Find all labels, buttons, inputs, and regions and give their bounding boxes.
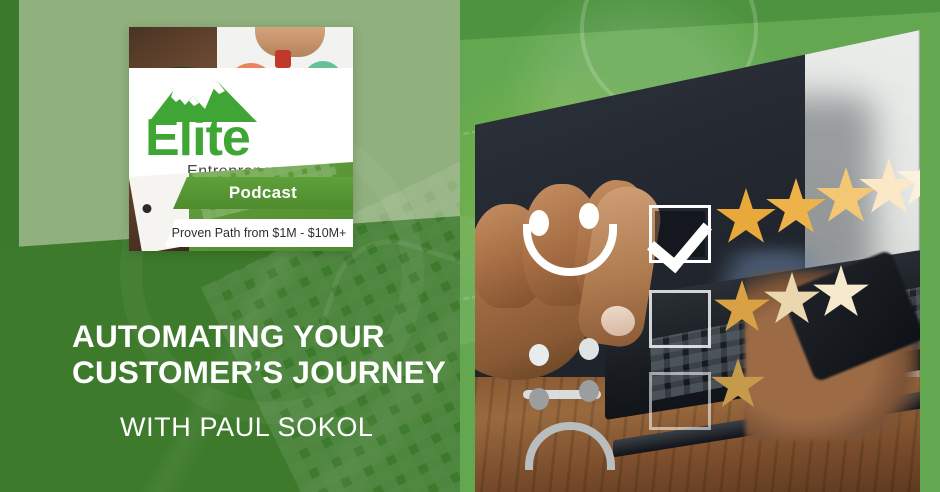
episode-title: AUTOMATING YOUR CUSTOMER’S JOURNEY — [72, 318, 472, 390]
rating-row-sad — [521, 340, 771, 460]
episode-title-line-2: CUSTOMER’S JOURNEY — [72, 354, 472, 390]
episode-guest: WITH PAUL SOKOL — [120, 411, 374, 443]
tagline-text: Proven Path from $1M - $10M+ — [165, 219, 353, 247]
logo-white-panel: Elite Entrepreneurs — [129, 68, 353, 177]
podcast-episode-banner: Elite Entrepreneurs Podcast Proven Path … — [0, 0, 940, 492]
checkbox-sad-unchecked[interactable] — [649, 372, 711, 430]
sad-eye-left — [529, 388, 549, 410]
podcast-label-band: Podcast — [173, 177, 353, 209]
checkbox-happy-checked[interactable] — [649, 205, 711, 263]
episode-title-line-1: AUTOMATING YOUR — [72, 318, 472, 354]
brand-primary-text: Elite — [145, 112, 250, 164]
left-dark-edge-strip — [0, 0, 19, 252]
sad-eye-right — [579, 380, 599, 402]
tagline-band: Proven Path from $1M - $10M+ — [165, 219, 353, 247]
sad-mouth — [525, 422, 615, 470]
podcast-label-text: Podcast — [173, 177, 353, 209]
podcast-logo-card: Elite Entrepreneurs Podcast Proven Path … — [129, 27, 353, 251]
marker-icon — [275, 50, 291, 68]
